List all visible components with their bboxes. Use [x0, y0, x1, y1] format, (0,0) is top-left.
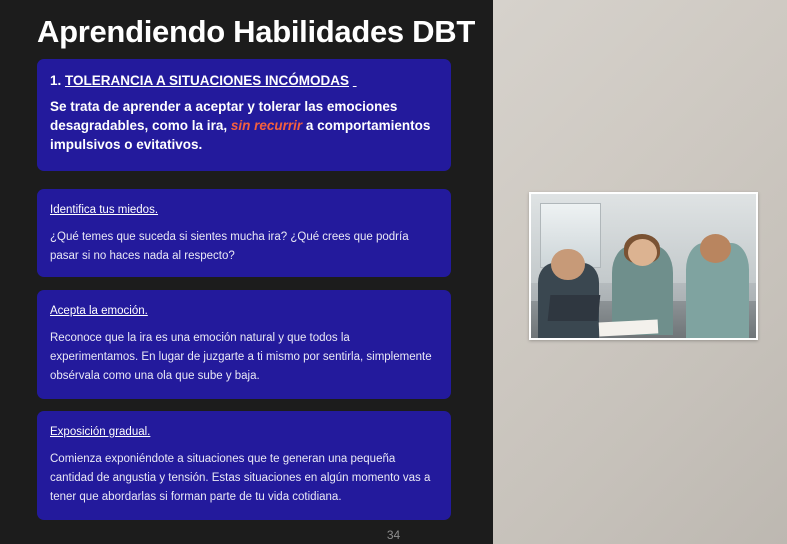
section-body-accent: sin recurrir: [231, 118, 302, 133]
skill-card-1: Identifica tus miedos. ¿Qué temes que su…: [37, 189, 451, 277]
skill-card-3-body: Comienza exponiéndote a situaciones que …: [50, 450, 438, 507]
photo-papers: [598, 319, 657, 336]
skill-card-2: Acepta la emoción. Reconoce que la ira e…: [37, 290, 451, 399]
skill-card-3: Exposición gradual. Comienza exponiéndot…: [37, 411, 451, 520]
page-title: Aprendiendo Habilidades DBT: [37, 12, 477, 52]
section-card-header: 1. TOLERANCIA A SITUACIONES INCÓMODAS Se…: [37, 59, 451, 171]
slide: Aprendiendo Habilidades DBT 1. TOLERANCI…: [0, 0, 787, 544]
section-heading-text: TOLERANCIA A SITUACIONES INCÓMODAS: [65, 73, 349, 88]
skill-card-3-title: Exposición gradual.: [50, 424, 438, 440]
section-body: Se trata de aprender a aceptar y tolerar…: [50, 97, 438, 154]
page-number: 34: [0, 528, 787, 542]
section-heading: 1. TOLERANCIA A SITUACIONES INCÓMODAS: [50, 72, 438, 90]
photo-person-left-head: [551, 249, 585, 281]
office-meeting-photo: [529, 192, 758, 340]
skill-card-2-body: Reconoce que la ira es una emoción natur…: [50, 329, 438, 386]
photo-person-right-head: [700, 234, 732, 263]
photo-person-center-head: [628, 239, 657, 266]
photo-laptop: [548, 295, 600, 321]
photo-image: [531, 194, 756, 338]
section-number: 1.: [50, 73, 61, 88]
skill-card-1-title: Identifica tus miedos.: [50, 202, 438, 218]
skill-card-1-body: ¿Qué temes que suceda si sientes mucha i…: [50, 228, 438, 266]
skill-card-2-title: Acepta la emoción.: [50, 303, 438, 319]
